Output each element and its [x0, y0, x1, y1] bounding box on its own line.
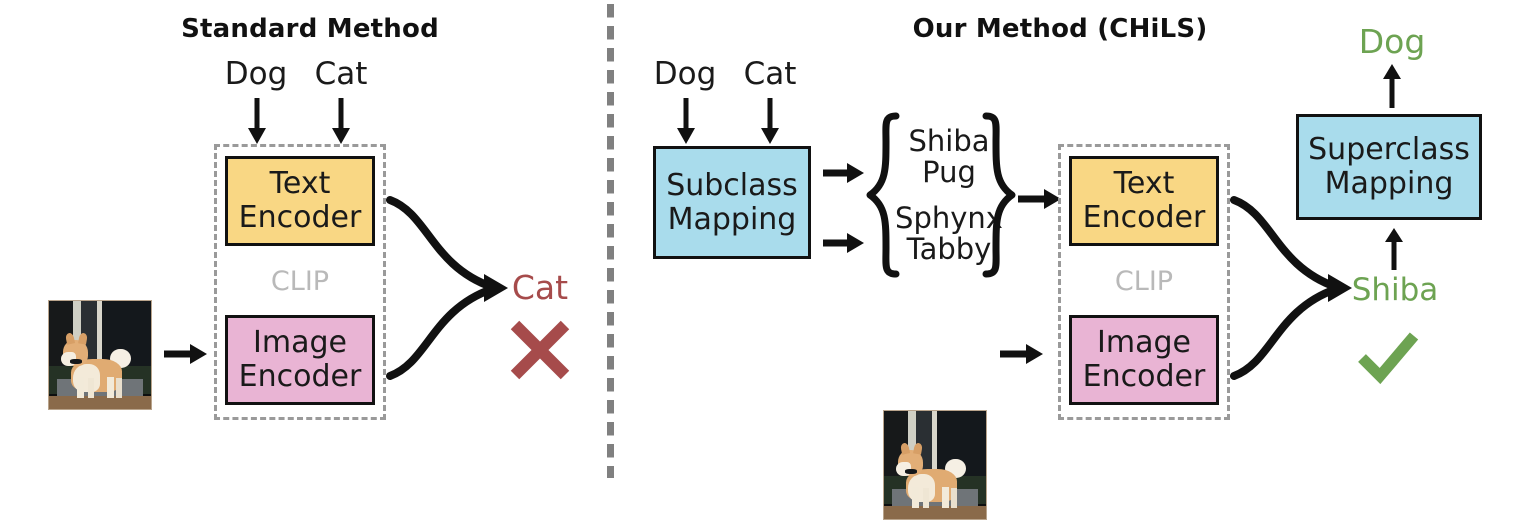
shiba-to-superclass-arrow [1382, 228, 1406, 270]
left-panel-title: Standard Method [130, 14, 490, 44]
right-image-encoder-box[interactable]: Image Encoder [1069, 315, 1219, 405]
left-clip-label: CLIP [225, 266, 375, 297]
subclass-to-set2-arrow [823, 232, 865, 254]
left-prediction-label: Cat [480, 268, 600, 307]
right-panel-title: Our Method (CHiLS) [860, 14, 1260, 44]
superclass-mapping-label: Superclass Mapping [1308, 133, 1470, 200]
subclass-to-set1-arrow [823, 162, 865, 184]
left-text-encoder-label: Text Encoder [239, 167, 362, 234]
left-text-encoder-box[interactable]: Text Encoder [225, 156, 375, 246]
left-image-encoder-label: Image Encoder [239, 326, 362, 393]
left-input-dog-arrow [245, 98, 269, 146]
right-image-to-clip-arrow [1000, 343, 1044, 365]
left-image-to-clip-arrow [164, 343, 208, 365]
superclass-to-dog-arrow [1380, 64, 1404, 108]
right-input-dog-arrow [674, 98, 698, 146]
superclass-mapping-box[interactable]: Superclass Mapping [1296, 114, 1482, 220]
left-input-dog-label: Dog [208, 58, 304, 91]
left-input-cat-arrow [329, 98, 353, 146]
check-icon [1356, 330, 1420, 384]
subclass-prediction-label: Shiba [1340, 272, 1450, 308]
left-input-cat-label: Cat [293, 58, 389, 91]
subclass-mapping-label: Subclass Mapping [666, 169, 798, 236]
right-input-image-thumbnail [883, 410, 987, 520]
panel-divider [607, 4, 614, 478]
left-input-image-thumbnail [48, 300, 152, 410]
right-input-cat-arrow [758, 98, 782, 146]
right-clip-label: CLIP [1069, 266, 1219, 297]
left-image-encoder-box[interactable]: Image Encoder [225, 315, 375, 405]
subclass-mapping-box[interactable]: Subclass Mapping [653, 146, 811, 259]
subclass-brace-right [982, 112, 1016, 278]
sets-to-clip-arrow [1018, 188, 1062, 210]
right-input-cat-label: Cat [720, 58, 820, 91]
right-text-encoder-label: Text Encoder [1083, 167, 1206, 234]
right-text-encoder-box[interactable]: Text Encoder [1069, 156, 1219, 246]
final-prediction-label: Dog [1337, 22, 1447, 61]
right-image-encoder-label: Image Encoder [1083, 326, 1206, 393]
figure-canvas: Standard Method Dog Cat Text Encoder CLI… [0, 0, 1526, 481]
cross-icon [508, 318, 572, 382]
